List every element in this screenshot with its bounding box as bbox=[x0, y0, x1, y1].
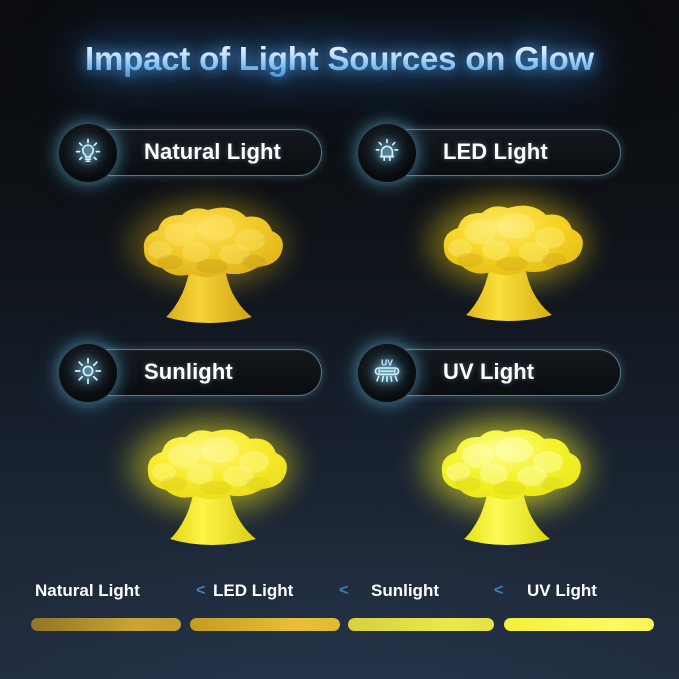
glow-object-uv-light bbox=[406, 412, 606, 562]
page-title: Impact of Light Sources on Glow bbox=[85, 40, 594, 78]
scale-separator-2: < bbox=[339, 578, 348, 604]
uv-lamp-icon: UV bbox=[369, 353, 405, 394]
lightbulb-icon bbox=[71, 134, 105, 173]
scale-bar-sunlight bbox=[348, 618, 494, 631]
scale-separator-3: < bbox=[494, 578, 503, 604]
card-label: Natural Light bbox=[144, 129, 281, 174]
scale-bar-natural-light bbox=[31, 618, 181, 631]
brightness-scale: Natural Light < LED Light < Sunlight < U… bbox=[0, 578, 679, 638]
glow-object-led-light bbox=[408, 188, 608, 338]
card-header-uv-light[interactable]: UV UV Light bbox=[357, 349, 621, 394]
scale-labels-row: Natural Light < LED Light < Sunlight < U… bbox=[0, 578, 679, 604]
infographic-canvas: Impact of Light Sources on Glow Natural … bbox=[0, 0, 679, 679]
scale-separator-1: < bbox=[196, 578, 205, 604]
uv-lamp-icon-badge: UV bbox=[357, 343, 417, 403]
card-header-led-light[interactable]: LED Light bbox=[357, 129, 621, 174]
card-header-sunlight[interactable]: Sunlight bbox=[58, 349, 322, 394]
card-header-natural-light[interactable]: Natural Light bbox=[58, 129, 322, 174]
page-title-container: Impact of Light Sources on Glow bbox=[0, 40, 679, 78]
uv-icon-text: UV bbox=[381, 357, 393, 367]
scale-bar-uv-light bbox=[504, 618, 654, 631]
scale-label-uv-light: UV Light bbox=[527, 578, 597, 604]
scale-bar-led-light bbox=[190, 618, 340, 631]
lightbulb-icon-badge bbox=[58, 123, 118, 183]
sun-icon-badge bbox=[58, 343, 118, 403]
scale-label-natural-light: Natural Light bbox=[35, 578, 140, 604]
glow-object-natural-light bbox=[108, 190, 308, 340]
led-bulb-icon-badge bbox=[357, 123, 417, 183]
broccoli-shape bbox=[408, 188, 608, 338]
scale-label-led-light: LED Light bbox=[213, 578, 293, 604]
broccoli-shape bbox=[108, 190, 308, 340]
card-label: UV Light bbox=[443, 349, 534, 394]
broccoli-shape bbox=[406, 412, 606, 562]
glow-object-sunlight bbox=[112, 412, 312, 562]
scale-label-sunlight: Sunlight bbox=[371, 578, 439, 604]
broccoli-shape bbox=[112, 412, 312, 562]
card-label: LED Light bbox=[443, 129, 548, 174]
sun-icon bbox=[71, 354, 105, 393]
card-label: Sunlight bbox=[144, 349, 233, 394]
led-bulb-icon bbox=[370, 134, 404, 173]
